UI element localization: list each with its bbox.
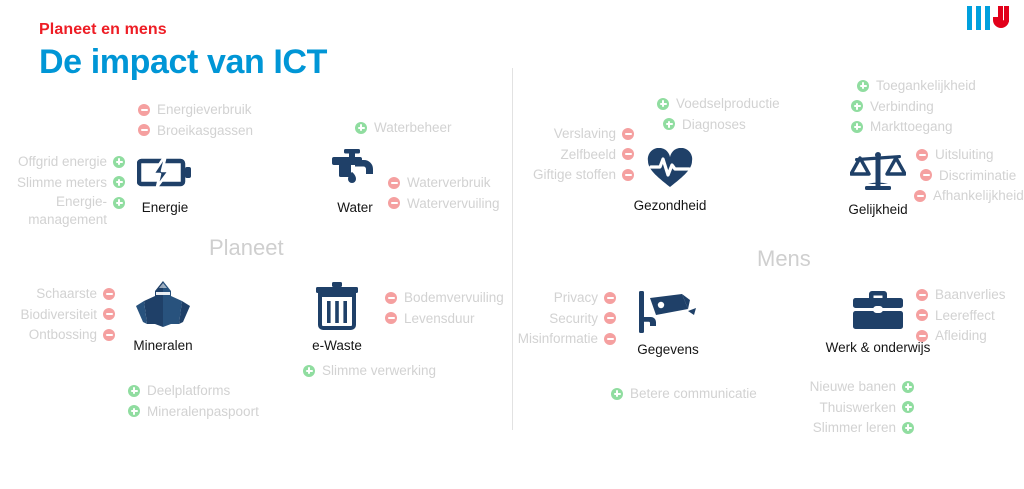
- node-caption: Mineralen: [128, 338, 198, 353]
- gegevens-bullets-left: Privacy Security Misinformatie: [518, 288, 616, 350]
- minus-icon: [916, 149, 928, 161]
- minus-icon: [920, 169, 932, 181]
- minus-icon: [622, 128, 634, 140]
- bullet-item: Giftige stoffen: [518, 165, 634, 185]
- node-caption: Gelijkheid: [842, 202, 914, 217]
- bullet-label: Verbinding: [870, 97, 934, 117]
- minus-icon: [103, 329, 115, 341]
- hu-logo: [967, 6, 1009, 30]
- bullet-label: Schaarste: [36, 284, 97, 304]
- bullet-item: Schaarste: [0, 284, 115, 304]
- bullet-item: Slimmer leren: [789, 418, 914, 438]
- bullet-label: Discriminatie: [939, 166, 1016, 186]
- slide-canvas: Planeet en mens De impact van ICT Planee…: [0, 0, 1024, 489]
- bullet-label: Security: [549, 309, 598, 329]
- bullet-label: Giftige stoffen: [533, 165, 616, 185]
- bullet-label: Slimme meters: [17, 173, 107, 193]
- gezondheid-bullets-left: Verslaving Zelfbeeld Giftige stoffen: [518, 124, 634, 186]
- bullet-item: Markttoegang: [851, 117, 976, 137]
- ewaste-bullets-bottom: Slimme verwerking: [303, 361, 436, 382]
- bullet-item: Nieuwe banen: [789, 377, 914, 397]
- bullet-label: Diagnoses: [682, 115, 746, 135]
- bullet-label: Bodemvervuiling: [404, 288, 504, 308]
- bullet-label: Uitsluiting: [935, 145, 994, 165]
- node-caption: Werk & onderwijs: [824, 340, 932, 355]
- minus-icon: [138, 104, 150, 116]
- scales-balance-icon: [842, 148, 914, 199]
- bullet-item: Ontbossing: [0, 325, 115, 345]
- minus-icon: [914, 190, 926, 202]
- plus-icon: [851, 100, 863, 112]
- bullet-label: Levensduur: [404, 309, 475, 329]
- bullet-label: Thuiswerken: [819, 398, 896, 418]
- slide-kicker: Planeet en mens: [39, 21, 167, 39]
- section-label-mens: Mens: [757, 246, 811, 272]
- bullet-label: Misinformatie: [518, 329, 598, 349]
- page-title: De impact van ICT: [39, 43, 327, 82]
- plus-icon: [128, 385, 140, 397]
- bullet-label: Afhankelijkheid: [933, 186, 1024, 206]
- bullet-label: Mineralenpaspoort: [147, 402, 259, 422]
- mineralen-bullets-left: Schaarste Biodiversiteit Ontbossing: [0, 284, 115, 346]
- plus-icon: [902, 381, 914, 393]
- bullet-label: Voedselproductie: [676, 94, 780, 114]
- plus-icon: [657, 98, 669, 110]
- bullet-item: Afhankelijkheid: [914, 186, 1024, 206]
- bullet-item: Mineralenpaspoort: [128, 402, 259, 422]
- bullet-item: Verbinding: [851, 97, 976, 117]
- bullet-item: Discriminatie: [920, 166, 1024, 186]
- minus-icon: [604, 292, 616, 304]
- trash-bin-icon: [304, 282, 370, 335]
- bullet-item: Watervervuiling: [388, 194, 500, 214]
- minus-icon: [604, 312, 616, 324]
- plus-icon: [902, 422, 914, 434]
- center-divider: [512, 68, 513, 430]
- bullet-label: Verslaving: [554, 124, 616, 144]
- node-gezondheid: Gezondheid: [633, 148, 707, 213]
- bullet-item: Security: [518, 309, 616, 329]
- bullet-item: Uitsluiting: [916, 145, 1024, 165]
- bullet-label: Biodiversiteit: [20, 305, 97, 325]
- bullet-label: Afleiding: [935, 326, 987, 346]
- bullet-label: Energie-management: [2, 193, 107, 229]
- heart-pulse-icon: [633, 148, 707, 195]
- gelijkheid-bullets-right: Uitsluiting Discriminatie Afhankelijkhei…: [916, 145, 1024, 207]
- bullet-label: Waterverbruik: [407, 173, 491, 193]
- minus-icon: [103, 288, 115, 300]
- bullet-label: Broeikasgassen: [157, 121, 253, 141]
- bullet-item: Bodemvervuiling: [385, 288, 504, 308]
- werk-bullets-bottom: Nieuwe banen Thuiswerken Slimmer leren: [789, 377, 914, 439]
- bullet-label: Slimmer leren: [813, 418, 896, 438]
- bullet-label: Offgrid energie: [18, 152, 107, 172]
- bullet-label: Baanverlies: [935, 285, 1006, 305]
- node-caption: Gegevens: [634, 342, 702, 357]
- gegevens-bullets-bottom: Betere communicatie: [611, 384, 757, 405]
- plus-icon: [113, 156, 125, 168]
- node-caption: Gezondheid: [633, 198, 707, 213]
- node-gelijkheid: Gelijkheid: [842, 148, 914, 217]
- plus-icon: [663, 118, 675, 130]
- bullet-item: Betere communicatie: [611, 384, 757, 404]
- bullet-item: Misinformatie: [518, 329, 616, 349]
- ewaste-bullets-right: Bodemvervuiling Levensduur: [385, 288, 504, 329]
- bullet-item: Slimme meters: [0, 173, 125, 193]
- node-werk-onderwijs: Werk & onderwijs: [824, 288, 932, 355]
- minus-icon: [388, 197, 400, 209]
- plus-icon: [851, 121, 863, 133]
- minus-icon: [103, 308, 115, 320]
- bullet-item: Toegankelijkheid: [857, 76, 976, 96]
- bullet-label: Watervervuiling: [407, 194, 500, 214]
- minus-icon: [388, 177, 400, 189]
- gelijkheid-bullets-top: Toegankelijkheid Verbinding Markttoegang: [851, 76, 976, 138]
- bullet-item: Verslaving: [518, 124, 634, 144]
- bullet-item: Levensduur: [385, 309, 504, 329]
- energie-bullets-top: Energieverbruik Broeikasgassen: [138, 100, 253, 141]
- bullet-label: Zelfbeeld: [560, 145, 616, 165]
- security-camera-icon: [634, 290, 702, 339]
- node-gegevens: Gegevens: [634, 290, 702, 357]
- battery-bolt-icon: [131, 152, 199, 197]
- plus-icon: [611, 388, 623, 400]
- bullet-label: Betere communicatie: [630, 384, 757, 404]
- bullet-item: Waterverbruik: [388, 173, 500, 193]
- bullet-item: Deelplatforms: [128, 381, 259, 401]
- bullet-item: Voedselproductie: [657, 94, 780, 114]
- bullet-label: Ontbossing: [29, 325, 97, 345]
- water-bullets-right: Waterverbruik Watervervuiling: [388, 173, 500, 214]
- mineralen-bullets-bottom: Deelplatforms Mineralenpaspoort: [128, 381, 259, 422]
- bullet-item: Slimme verwerking: [303, 361, 436, 381]
- bullet-item: Waterbeheer: [355, 118, 452, 138]
- node-energie: Energie: [131, 152, 199, 215]
- bullet-label: Toegankelijkheid: [876, 76, 976, 96]
- node-ewaste: e-Waste: [304, 282, 370, 353]
- minus-icon: [604, 333, 616, 345]
- bullet-item: Biodiversiteit: [0, 305, 115, 325]
- node-mineralen: Mineralen: [128, 280, 198, 353]
- bullet-label: Energieverbruik: [157, 100, 252, 120]
- bullet-label: Waterbeheer: [374, 118, 452, 138]
- plus-icon: [113, 176, 125, 188]
- minus-icon: [385, 312, 397, 324]
- water-bullets-top: Waterbeheer: [355, 118, 452, 139]
- minus-icon: [138, 124, 150, 136]
- bullet-item: Thuiswerken: [789, 398, 914, 418]
- bullet-label: Deelplatforms: [147, 381, 230, 401]
- plus-icon: [902, 401, 914, 413]
- bullet-item: Privacy: [518, 288, 616, 308]
- faucet-drop-icon: [327, 148, 383, 197]
- plus-icon: [355, 122, 367, 134]
- node-caption: Energie: [131, 200, 199, 215]
- bullet-label: Slimme verwerking: [322, 361, 436, 381]
- bullet-label: Leereffect: [935, 306, 995, 326]
- crystal-gem-icon: [128, 280, 198, 335]
- node-caption: Water: [327, 200, 383, 215]
- plus-icon: [128, 405, 140, 417]
- bullet-label: Nieuwe banen: [810, 377, 896, 397]
- section-label-planeet: Planeet: [209, 235, 284, 261]
- plus-icon: [113, 197, 125, 209]
- bullet-item: Energieverbruik: [138, 100, 253, 120]
- bullet-label: Markttoegang: [870, 117, 953, 137]
- bullet-item: Diagnoses: [663, 115, 780, 135]
- plus-icon: [303, 365, 315, 377]
- bullet-item: Broeikasgassen: [138, 121, 253, 141]
- node-water: Water: [327, 148, 383, 215]
- plus-icon: [857, 80, 869, 92]
- gezondheid-bullets-top: Voedselproductie Diagnoses: [657, 94, 780, 135]
- briefcase-icon: [824, 288, 932, 337]
- bullet-item: Zelfbeeld: [518, 145, 634, 165]
- bullet-item: Energie-management: [0, 193, 125, 229]
- node-caption: e-Waste: [304, 338, 370, 353]
- energie-bullets-left: Offgrid energie Slimme meters Energie-ma…: [0, 152, 125, 230]
- bullet-item: Offgrid energie: [0, 152, 125, 172]
- minus-icon: [385, 292, 397, 304]
- bullet-label: Privacy: [554, 288, 598, 308]
